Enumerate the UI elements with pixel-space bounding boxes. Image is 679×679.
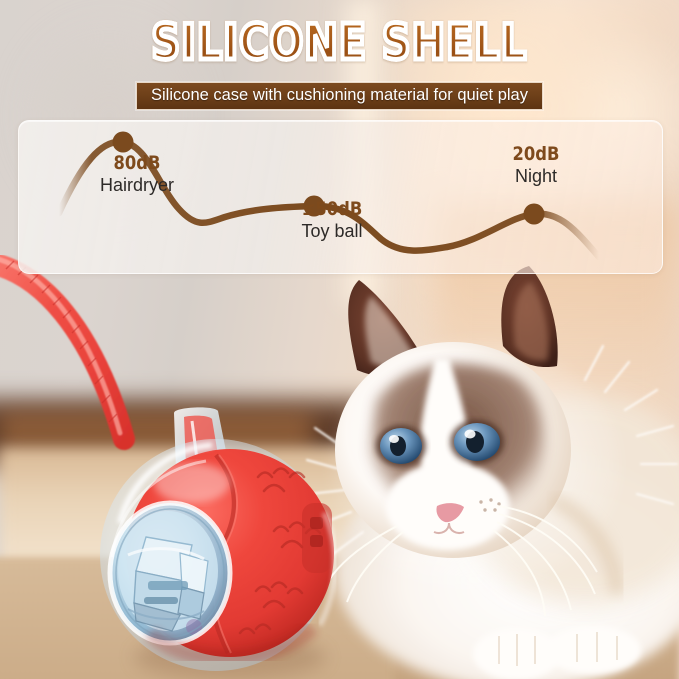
noise-name-hairdryer: Hairdryer — [77, 174, 197, 196]
noise-name-toy-ball: Toy ball — [267, 220, 397, 242]
ball-transparent-window — [110, 503, 230, 643]
noise-comparison-panel: 80dB Hairdryer ≤50dB Toy ball 20dB Night — [18, 120, 663, 274]
cat-eye-right — [450, 420, 504, 464]
cat-eye-left — [376, 425, 426, 467]
wave-marker-night — [524, 204, 545, 225]
promo-image: 80dB Hairdryer ≤50dB Toy ball 20dB Night… — [0, 0, 679, 679]
wave-marker-hairdryer — [113, 132, 134, 153]
noise-label-hairdryer: 80dB Hairdryer — [77, 153, 197, 196]
noise-label-night: 20dB Night — [481, 144, 591, 187]
noise-name-night: Night — [481, 165, 591, 187]
noise-db-toy-ball: ≤50dB — [276, 199, 388, 219]
noise-label-toy-ball: ≤50dB Toy ball — [267, 199, 397, 242]
cat-paw-back — [545, 626, 641, 674]
ball-port-panel — [302, 503, 332, 573]
product-ball — [88, 405, 358, 679]
noise-db-hairdryer: 80dB — [85, 153, 188, 173]
subtitle-banner: Silicone case with cushioning material f… — [136, 82, 543, 110]
noise-db-night: 20dB — [489, 144, 584, 164]
subtitle-group: Silicone case with cushioning material f… — [0, 82, 679, 110]
